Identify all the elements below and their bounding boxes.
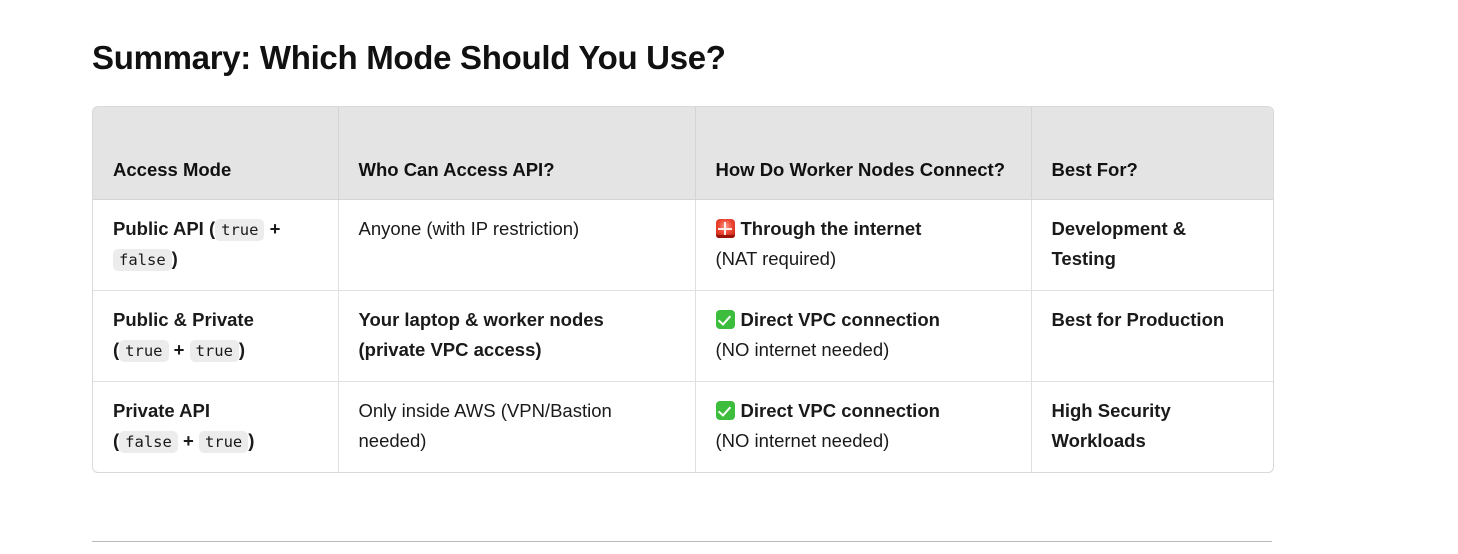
column-header-how-do-worker-nodes-connect: How Do Worker Nodes Connect?	[695, 107, 1031, 200]
table-header: Access Mode Who Can Access API? How Do W…	[93, 107, 1273, 200]
table-row: Public API (true + false) Anyone (with I…	[93, 200, 1273, 291]
access-mode-code-public: true	[215, 219, 264, 241]
cell-access-mode: Public & Private (true + true)	[93, 291, 338, 382]
access-mode-code-public: true	[119, 340, 168, 362]
content-area: Summary: Which Mode Should You Use? Acce…	[92, 0, 1272, 473]
access-mode-code-private: false	[113, 249, 172, 271]
connect-headline-text: Direct VPC connection	[741, 400, 940, 421]
check-mark-icon	[716, 310, 735, 329]
connect-headline-text: Through the internet	[741, 218, 922, 239]
cell-worker-node-connect: Through the internet (NAT required)	[695, 200, 1031, 291]
access-mode-plus: +	[270, 218, 281, 239]
cell-worker-node-connect: Direct VPC connection (NO internet neede…	[695, 382, 1031, 472]
access-mode-code-private: true	[190, 340, 239, 362]
connect-detail: (NAT required)	[716, 244, 1011, 274]
access-mode-label: Private API	[113, 400, 210, 421]
table-body: Public API (true + false) Anyone (with I…	[93, 200, 1273, 472]
section-divider	[92, 541, 1272, 542]
access-mode-close-paren: )	[248, 430, 254, 451]
access-mode-close-paren: )	[172, 248, 178, 269]
access-mode-label: Public API (	[113, 218, 215, 239]
alarm-light-icon	[716, 219, 735, 238]
cell-who-can-access: Anyone (with IP restriction)	[338, 200, 695, 291]
table-row: Private API (false + true) Only inside A…	[93, 382, 1273, 472]
connect-detail: (NO internet needed)	[716, 426, 1011, 456]
access-mode-flags: (false + true)	[113, 426, 318, 456]
cell-who-can-access: Only inside AWS (VPN/Bastion needed)	[338, 382, 695, 472]
cell-best-for: High Security Workloads	[1031, 382, 1273, 472]
access-mode-plus: +	[183, 430, 194, 451]
page-title: Summary: Which Mode Should You Use?	[92, 0, 1272, 78]
access-mode-close-paren: )	[239, 339, 245, 360]
cell-worker-node-connect: Direct VPC connection (NO internet neede…	[695, 291, 1031, 382]
summary-table: Access Mode Who Can Access API? How Do W…	[93, 107, 1273, 472]
connect-headline: Direct VPC connection	[716, 309, 940, 330]
connect-headline: Direct VPC connection	[716, 400, 940, 421]
connect-headline-text: Direct VPC connection	[741, 309, 940, 330]
table-row: Public & Private (true + true) Your lapt…	[93, 291, 1273, 382]
access-mode-plus: +	[174, 339, 185, 360]
access-mode-code-public: false	[119, 431, 178, 453]
connect-detail: (NO internet needed)	[716, 335, 1011, 365]
access-mode-flags: (true + true)	[113, 335, 318, 365]
cell-best-for: Best for Production	[1031, 291, 1273, 382]
table-header-row: Access Mode Who Can Access API? How Do W…	[93, 107, 1273, 200]
access-mode-label: Public & Private	[113, 309, 254, 330]
column-header-best-for: Best For?	[1031, 107, 1273, 200]
summary-table-container: Access Mode Who Can Access API? How Do W…	[92, 106, 1274, 473]
cell-best-for: Development & Testing	[1031, 200, 1273, 291]
cell-access-mode: Public API (true + false)	[93, 200, 338, 291]
check-mark-icon	[716, 401, 735, 420]
connect-headline: Through the internet	[716, 218, 922, 239]
column-header-who-can-access-api: Who Can Access API?	[338, 107, 695, 200]
cell-access-mode: Private API (false + true)	[93, 382, 338, 472]
column-header-access-mode: Access Mode	[93, 107, 338, 200]
access-mode-code-private: true	[199, 431, 248, 453]
cell-who-can-access: Your laptop & worker nodes (private VPC …	[338, 291, 695, 382]
